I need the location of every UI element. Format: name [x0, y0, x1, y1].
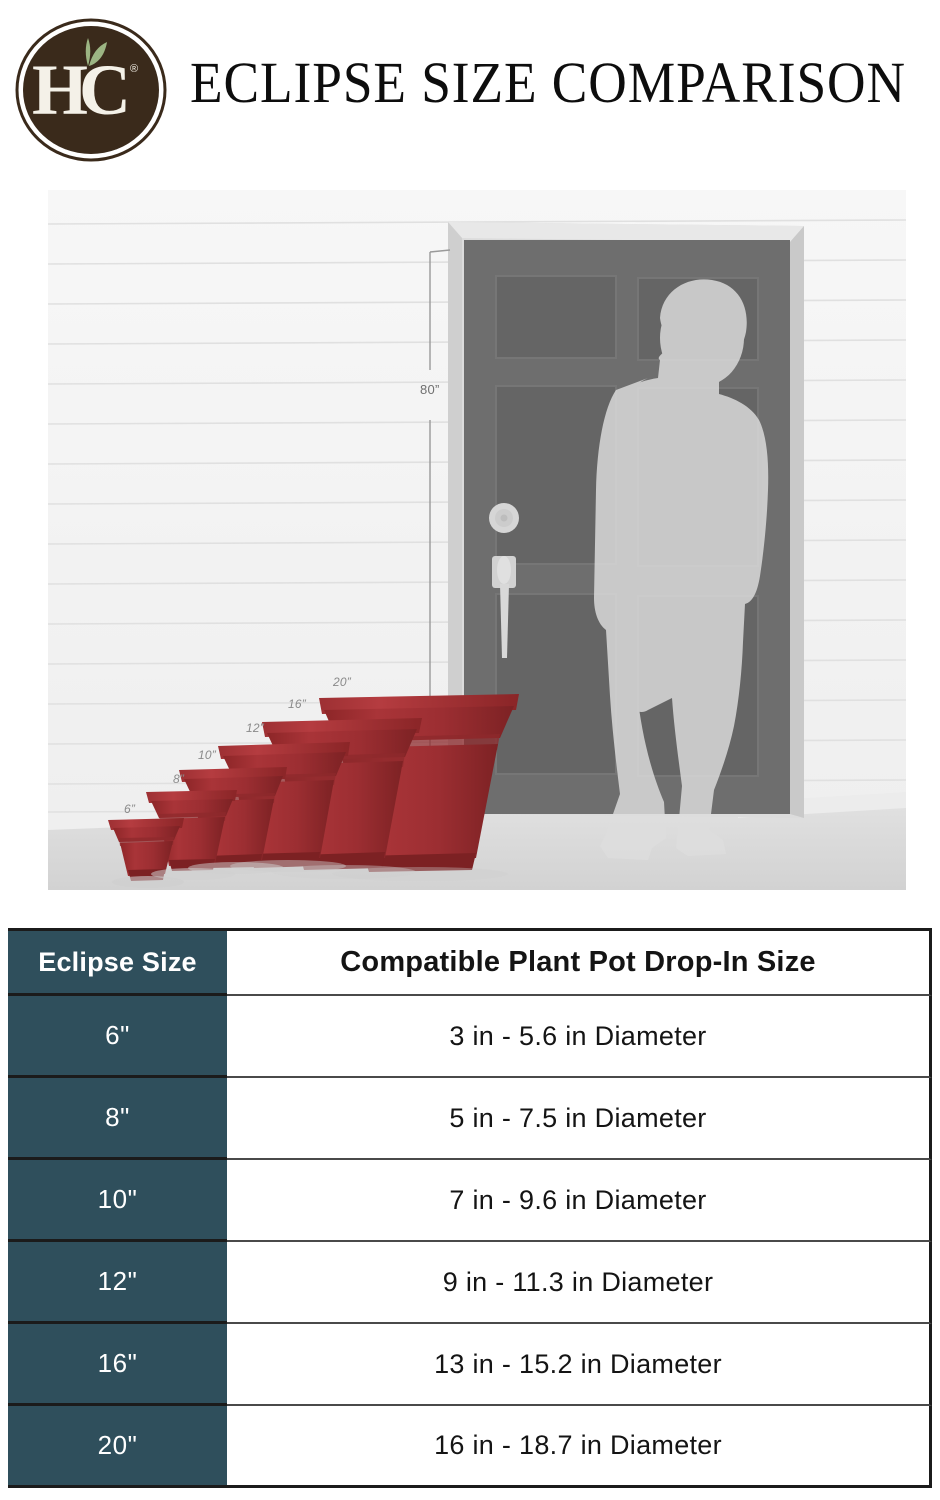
cell-eclipse-size: 10": [8, 1160, 227, 1242]
column-header-drop-in-size: Compatible Plant Pot Drop-In Size: [227, 928, 932, 996]
door-knob-icon: [489, 503, 519, 533]
table-row: 16" 13 in - 15.2 in Diameter: [8, 1324, 932, 1406]
table-row: 8" 5 in - 7.5 in Diameter: [8, 1078, 932, 1160]
svg-text:C: C: [79, 50, 131, 130]
pot-label-10in: 10”: [198, 748, 216, 762]
pot-label-6in: 6”: [124, 802, 135, 816]
table-row: 6" 3 in - 5.6 in Diameter: [8, 996, 932, 1078]
pot-label-20in: 20”: [333, 675, 351, 689]
pot-shadow: [332, 867, 508, 881]
cell-eclipse-size: 12": [8, 1242, 227, 1324]
logo-svg: H C ®: [12, 16, 170, 164]
svg-text:®: ®: [130, 63, 138, 75]
table-row: 12" 9 in - 11.3 in Diameter: [8, 1242, 932, 1324]
cell-drop-in-size: 13 in - 15.2 in Diameter: [227, 1324, 932, 1406]
column-header-eclipse-size: Eclipse Size: [8, 928, 227, 996]
cell-drop-in-size: 16 in - 18.7 in Diameter: [227, 1406, 932, 1488]
door-height-label: 80”: [420, 382, 440, 397]
product-photo: 80” 6” 8” 10” 12” 16” 20”: [48, 190, 906, 890]
cell-eclipse-size: 8": [8, 1078, 227, 1160]
size-comparison-page: H C ® ECLIPSE SIZE COMPARISON: [0, 0, 940, 1500]
pot-label-16in: 16”: [288, 697, 306, 711]
table-header-row: Eclipse Size Compatible Plant Pot Drop-I…: [8, 928, 932, 996]
page-header: H C ® ECLIPSE SIZE COMPARISON: [0, 0, 940, 178]
cell-drop-in-size: 5 in - 7.5 in Diameter: [227, 1078, 932, 1160]
cell-eclipse-size: 16": [8, 1324, 227, 1406]
page-title: ECLIPSE SIZE COMPARISON: [190, 48, 871, 118]
cell-eclipse-size: 20": [8, 1406, 227, 1488]
cell-drop-in-size: 7 in - 9.6 in Diameter: [227, 1160, 932, 1242]
table-row: 20" 16 in - 18.7 in Diameter: [8, 1406, 932, 1488]
pot-label-12in: 12”: [246, 721, 264, 735]
table-row: 10" 7 in - 9.6 in Diameter: [8, 1160, 932, 1242]
pot-label-8in: 8”: [173, 772, 184, 786]
size-chart-table: Eclipse Size Compatible Plant Pot Drop-I…: [8, 928, 932, 1488]
hc-brand-logo: H C ®: [12, 16, 170, 164]
cell-drop-in-size: 3 in - 5.6 in Diameter: [227, 996, 932, 1078]
cell-eclipse-size: 6": [8, 996, 227, 1078]
cell-drop-in-size: 9 in - 11.3 in Diameter: [227, 1242, 932, 1324]
